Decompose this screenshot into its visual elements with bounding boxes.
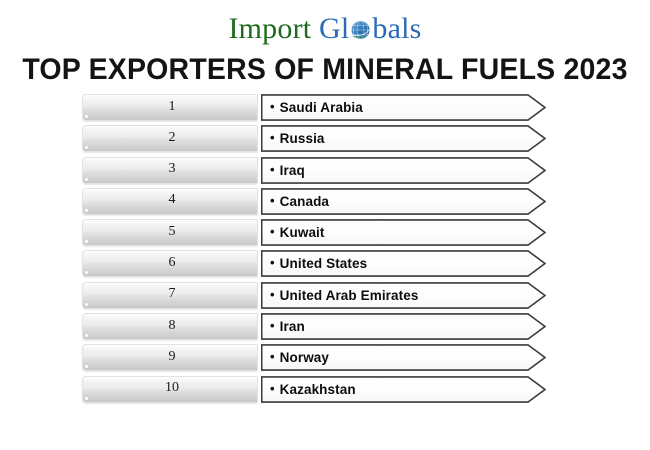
logo-word-bals: bals — [372, 12, 421, 45]
rank-box: 2 — [82, 125, 258, 152]
rank-box: 9 — [82, 344, 258, 371]
logo-text: Import Gl — [228, 12, 421, 46]
rank-box: 6 — [82, 250, 258, 277]
logo-word-gl: Gl — [319, 12, 349, 45]
list-item: 10 •Kazakhstan — [0, 376, 650, 403]
rank-value: 4 — [169, 192, 176, 208]
bullet-icon: • — [270, 131, 275, 144]
list-item: 8 •Iran — [0, 313, 650, 340]
list-item: 2 •Russia — [0, 125, 650, 152]
list-item: 9 •Norway — [0, 344, 650, 371]
rank-box: 1 — [82, 94, 258, 121]
country-arrow: •Russia — [261, 125, 546, 152]
bullet-icon: • — [270, 100, 275, 113]
bullet-icon: • — [270, 163, 275, 176]
rank-box: 4 — [82, 188, 258, 215]
globe-icon — [349, 16, 372, 39]
rank-value: 9 — [169, 349, 176, 365]
country-name: United Arab Emirates — [280, 288, 419, 303]
country-label: •Iran — [270, 319, 305, 334]
country-arrow: •Iraq — [261, 157, 546, 184]
list-item: 3 •Iraq — [0, 157, 650, 184]
country-name: Norway — [280, 350, 329, 365]
page-title: TOP EXPORTERS OF MINERAL FUELS 2023 — [16, 53, 634, 87]
country-arrow: •Canada — [261, 188, 546, 215]
rank-value: 2 — [169, 130, 176, 146]
country-name: Canada — [280, 194, 329, 209]
country-arrow: •Iran — [261, 313, 546, 340]
list-item: 1 •Saudi Arabia — [0, 94, 650, 121]
country-label: •Kuwait — [270, 225, 325, 240]
country-label: •Russia — [270, 131, 325, 146]
country-name: Kuwait — [280, 225, 325, 240]
country-label: •Norway — [270, 350, 329, 365]
bullet-icon: • — [270, 319, 275, 332]
country-label: •Saudi Arabia — [270, 100, 363, 115]
country-arrow: •United Arab Emirates — [261, 282, 546, 309]
rank-value: 10 — [165, 380, 179, 396]
country-label: •United Arab Emirates — [270, 288, 418, 303]
rank-value: 6 — [169, 255, 176, 271]
list-item: 6 •United States — [0, 250, 650, 277]
brand-logo: Import Gl — [0, 12, 650, 50]
rank-box: 3 — [82, 157, 258, 184]
list-item: 5 •Kuwait — [0, 219, 650, 246]
country-arrow: •Norway — [261, 344, 546, 371]
country-name: Iran — [280, 319, 305, 334]
country-arrow: •United States — [261, 250, 546, 277]
bullet-icon: • — [270, 194, 275, 207]
rank-value: 8 — [169, 318, 176, 334]
ranking-list: 1 •Saudi Arabia 2 •Russia 3 •Iraq — [0, 94, 650, 407]
bullet-icon: • — [270, 256, 275, 269]
country-label: •Kazakhstan — [270, 382, 356, 397]
country-name: Iraq — [280, 163, 305, 178]
bullet-icon: • — [270, 350, 275, 363]
country-name: Saudi Arabia — [280, 100, 363, 115]
rank-box: 8 — [82, 313, 258, 340]
rank-box: 5 — [82, 219, 258, 246]
list-item: 4 •Canada — [0, 188, 650, 215]
country-label: •Canada — [270, 194, 329, 209]
bullet-icon: • — [270, 225, 275, 238]
rank-box: 10 — [82, 376, 258, 403]
country-name: United States — [280, 256, 368, 271]
country-label: •United States — [270, 256, 367, 271]
country-arrow: •Kazakhstan — [261, 376, 546, 403]
country-name: Russia — [280, 131, 325, 146]
rank-value: 3 — [169, 161, 176, 177]
logo-word-import: Import — [228, 12, 311, 45]
country-arrow: •Saudi Arabia — [261, 94, 546, 121]
rank-box: 7 — [82, 282, 258, 309]
bullet-icon: • — [270, 382, 275, 395]
country-label: •Iraq — [270, 163, 305, 178]
country-arrow: •Kuwait — [261, 219, 546, 246]
rank-value: 5 — [169, 224, 176, 240]
list-item: 7 •United Arab Emirates — [0, 282, 650, 309]
rank-value: 1 — [169, 99, 176, 115]
rank-value: 7 — [169, 286, 176, 302]
country-name: Kazakhstan — [280, 382, 356, 397]
bullet-icon: • — [270, 288, 275, 301]
